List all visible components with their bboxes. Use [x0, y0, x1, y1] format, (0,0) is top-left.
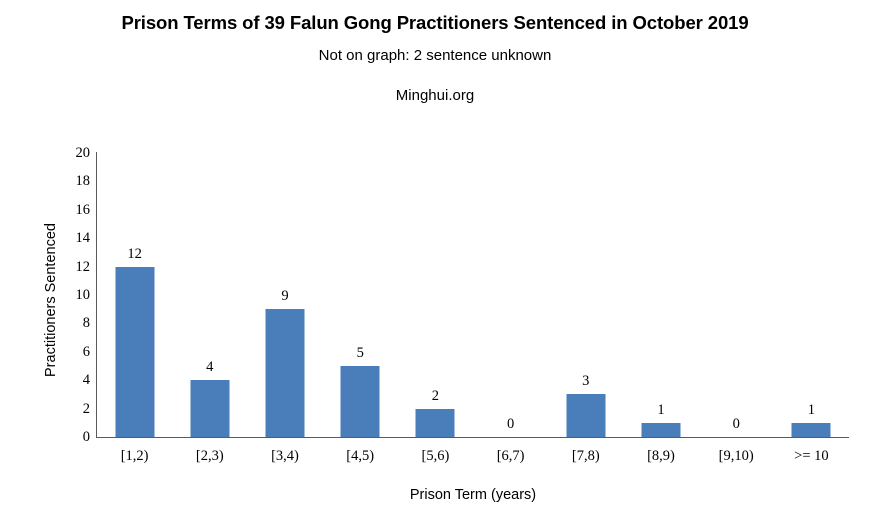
bar[interactable]	[190, 380, 229, 437]
bar-value-label: 4	[206, 360, 213, 375]
bar-group: 1>= 10	[774, 153, 849, 437]
x-axis-tick-label: [1,2)	[121, 448, 149, 465]
y-axis-tick-label: 10	[40, 288, 90, 302]
y-axis-tick-label: 4	[40, 373, 90, 387]
chart-plot-area: Practitioners Sentenced 0246810121416182…	[0, 0, 870, 519]
bar-value-label: 3	[582, 374, 589, 389]
x-axis-tick-label: >= 10	[794, 448, 828, 465]
bar-group: 3[7,8)	[548, 153, 623, 437]
bar-group: 0[9,10)	[699, 153, 774, 437]
x-axis-tick-label: [9,10)	[719, 448, 754, 465]
bar-value-label: 1	[657, 403, 664, 418]
x-axis-title: Prison Term (years)	[97, 487, 849, 503]
bar[interactable]	[566, 394, 605, 437]
bar-group: 5[4,5)	[323, 153, 398, 437]
y-axis-tick-labels: 02468101214161820	[40, 145, 90, 445]
bar-value-label: 0	[733, 417, 740, 432]
y-axis-tick-label: 14	[40, 231, 90, 245]
x-axis-line	[96, 437, 849, 438]
bar[interactable]	[115, 267, 154, 437]
bar[interactable]	[416, 409, 455, 437]
x-axis-tick-label: [6,7)	[497, 448, 525, 465]
bar-value-label: 2	[432, 389, 439, 404]
x-axis-tick-label: [4,5)	[346, 448, 374, 465]
bar-value-label: 12	[127, 247, 142, 262]
bar-group: 12[1,2)	[97, 153, 172, 437]
bar-group: 0[6,7)	[473, 153, 548, 437]
bar-value-label: 0	[507, 417, 514, 432]
bar[interactable]	[641, 423, 680, 437]
bar-group: 1[8,9)	[623, 153, 698, 437]
bar[interactable]	[792, 423, 831, 437]
y-axis-tick-label: 20	[40, 146, 90, 160]
y-axis-tick-label: 6	[40, 345, 90, 359]
y-axis-tick-label: 12	[40, 260, 90, 274]
y-axis-tick-label: 18	[40, 174, 90, 188]
bar-value-label: 5	[357, 346, 364, 361]
y-axis-tick-label: 0	[40, 430, 90, 444]
x-axis-tick-label: [3,4)	[271, 448, 299, 465]
bar[interactable]	[265, 309, 304, 437]
x-axis-tick-label: [7,8)	[572, 448, 600, 465]
bar-group: 2[5,6)	[398, 153, 473, 437]
y-axis-tick-label: 2	[40, 402, 90, 416]
x-axis-tick-label: [8,9)	[647, 448, 675, 465]
bars-container: 12[1,2)4[2,3)9[3,4)5[4,5)2[5,6)0[6,7)3[7…	[97, 153, 849, 437]
bar[interactable]	[341, 366, 380, 437]
y-axis-tick-label: 16	[40, 203, 90, 217]
bar-group: 4[2,3)	[172, 153, 247, 437]
bar-value-label: 9	[281, 289, 288, 304]
x-axis-tick-label: [5,6)	[421, 448, 449, 465]
bar-value-label: 1	[808, 403, 815, 418]
x-axis-tick-label: [2,3)	[196, 448, 224, 465]
y-axis-tick-label: 8	[40, 316, 90, 330]
bar-group: 9[3,4)	[247, 153, 322, 437]
